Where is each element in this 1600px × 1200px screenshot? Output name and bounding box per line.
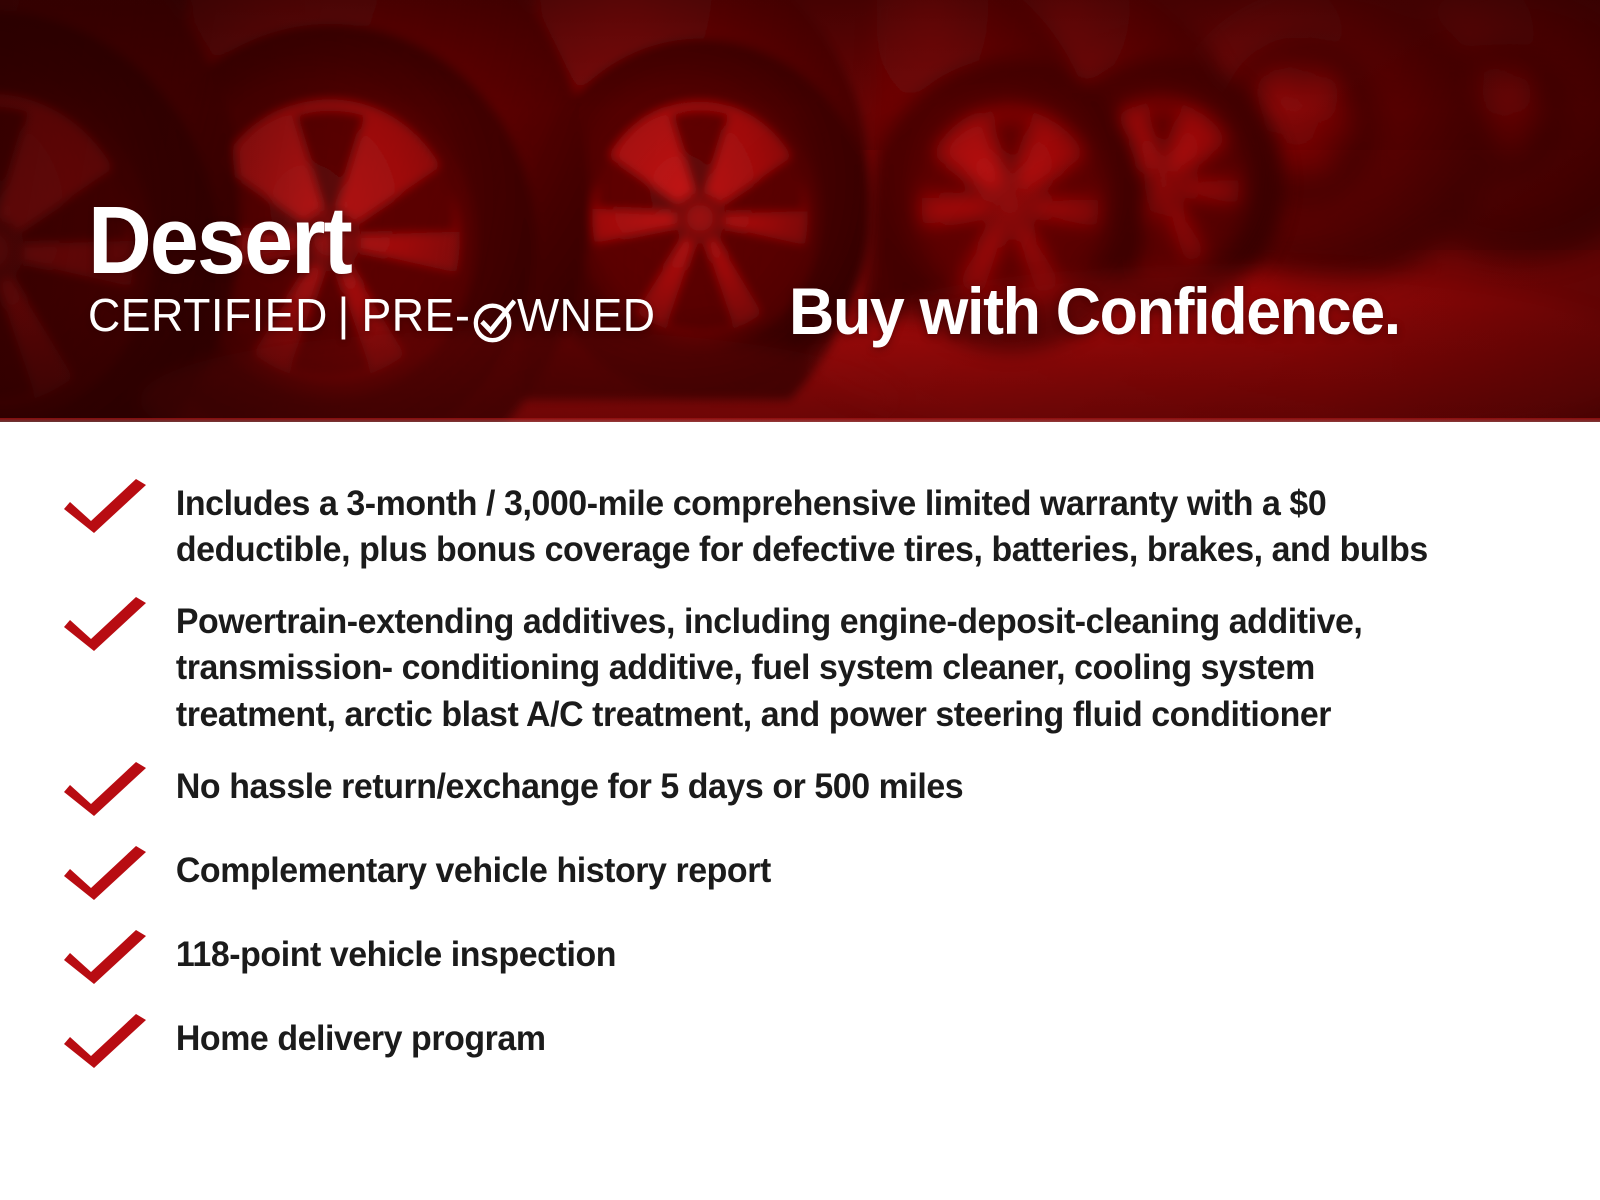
benefit-text: Complementary vehicle history report [152, 847, 1478, 893]
benefit-item-return-exchange: No hassle return/exchange for 5 days or … [60, 763, 1540, 821]
benefit-line: Includes a 3-month / 3,000-mile comprehe… [176, 480, 1478, 526]
logo-certified-text: CERTIFIED [88, 292, 328, 338]
benefit-line: 118-point vehicle inspection [176, 931, 1478, 977]
benefit-text: 118-point vehicle inspection [152, 931, 1478, 977]
logo-owned-text: WNED [517, 292, 656, 338]
check-mark-icon [60, 843, 152, 905]
benefit-line: transmission- conditioning additive, fue… [176, 644, 1478, 690]
benefit-line: Home delivery program [176, 1015, 1478, 1061]
benefit-text: No hassle return/exchange for 5 days or … [152, 763, 1478, 809]
check-circle-icon [471, 299, 516, 345]
check-mark-icon [60, 1011, 152, 1073]
logo-pre-text: PRE- [361, 292, 470, 338]
benefit-line: treatment, arctic blast A/C treatment, a… [176, 691, 1478, 737]
logo-separator: | [328, 291, 362, 337]
check-mark-icon [60, 759, 152, 821]
benefit-item-inspection: 118-point vehicle inspection [60, 931, 1540, 989]
hero-banner: Desert CERTIFIED | PRE- WNED Buy with Co… [0, 0, 1600, 422]
benefit-item-history-report: Complementary vehicle history report [60, 847, 1540, 905]
benefit-item-warranty: Includes a 3-month / 3,000-mile comprehe… [60, 480, 1540, 572]
brand-tagline-certified-preowned: CERTIFIED | PRE- WNED [88, 292, 656, 338]
benefit-line: deductible, plus bonus coverage for defe… [176, 526, 1478, 572]
check-mark-icon [60, 927, 152, 989]
certified-pre-owned-flyer: Desert CERTIFIED | PRE- WNED Buy with Co… [0, 0, 1600, 1200]
benefits-list: Includes a 3-month / 3,000-mile comprehe… [0, 422, 1600, 1073]
benefit-text: Powertrain-extending additives, includin… [152, 598, 1478, 736]
benefit-item-home-delivery: Home delivery program [60, 1015, 1540, 1073]
benefit-text: Includes a 3-month / 3,000-mile comprehe… [152, 480, 1478, 572]
benefit-line: Complementary vehicle history report [176, 847, 1478, 893]
benefit-item-additives: Powertrain-extending additives, includin… [60, 598, 1540, 736]
hero-tagline: Buy with Confidence. [789, 278, 1400, 344]
benefit-line: Powertrain-extending additives, includin… [176, 598, 1478, 644]
brand-name: Desert [88, 196, 626, 286]
brand-logo: Desert CERTIFIED | PRE- WNED [88, 196, 673, 338]
check-mark-icon [60, 476, 152, 538]
benefit-line: No hassle return/exchange for 5 days or … [176, 763, 1478, 809]
check-mark-icon [60, 594, 152, 656]
benefit-text: Home delivery program [152, 1015, 1478, 1061]
